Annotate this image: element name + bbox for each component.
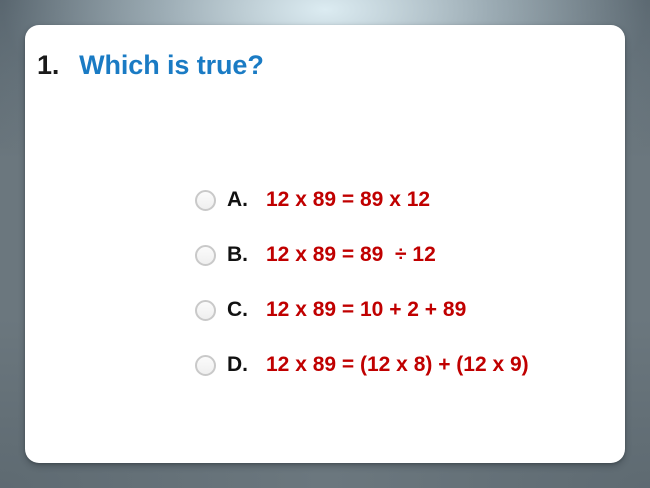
option-letter-b: B.: [227, 243, 257, 267]
slide-root: 1. Which is true? A. 12 x 89 = 89 x 12 B…: [0, 0, 650, 488]
answer-options-list: A. 12 x 89 = 89 x 12 B. 12 x 89 = 89 ÷ 1…: [195, 182, 529, 383]
question-heading: 1. Which is true?: [37, 50, 264, 81]
option-letter-d: D.: [227, 353, 257, 377]
radio-button-icon-b[interactable]: [195, 245, 216, 266]
option-text-a: 12 x 89 = 89 x 12: [266, 188, 430, 212]
radio-button-icon-c[interactable]: [195, 300, 216, 321]
radio-button-icon-a[interactable]: [195, 190, 216, 211]
option-letter-a: A.: [227, 188, 257, 212]
question-number: 1.: [37, 50, 59, 81]
option-text-b: 12 x 89 = 89 ÷ 12: [266, 243, 436, 267]
radio-button-icon-d[interactable]: [195, 355, 216, 376]
option-letter-c: C.: [227, 298, 257, 322]
answer-option-b[interactable]: B. 12 x 89 = 89 ÷ 12: [195, 237, 529, 273]
question-title: Which is true?: [79, 50, 264, 81]
answer-option-d[interactable]: D. 12 x 89 = (12 x 8) + (12 x 9): [195, 347, 529, 383]
option-text-d: 12 x 89 = (12 x 8) + (12 x 9): [266, 353, 529, 377]
option-text-c: 12 x 89 = 10 + 2 + 89: [266, 298, 466, 322]
answer-option-a[interactable]: A. 12 x 89 = 89 x 12: [195, 182, 529, 218]
answer-option-c[interactable]: C. 12 x 89 = 10 + 2 + 89: [195, 292, 529, 328]
